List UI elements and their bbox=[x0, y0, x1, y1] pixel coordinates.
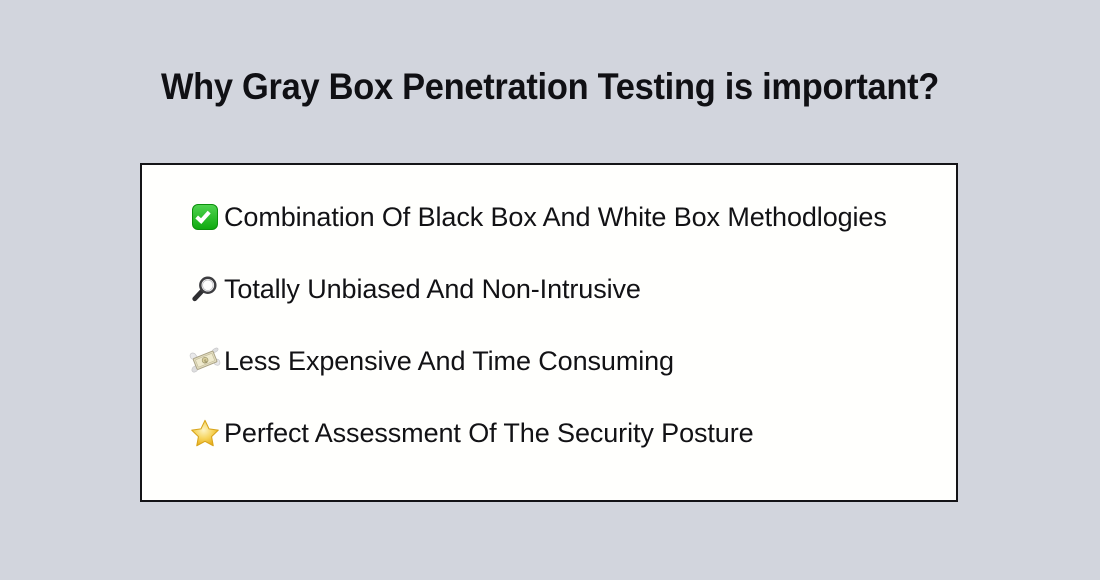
list-item: Perfect Assessment Of The Security Postu… bbox=[188, 411, 948, 455]
money-with-wings-icon: $ bbox=[188, 344, 222, 378]
list-item-label: Perfect Assessment Of The Security Postu… bbox=[224, 420, 754, 447]
magnifying-glass-shape bbox=[190, 274, 220, 304]
star-icon bbox=[188, 416, 222, 450]
list-item-label: Less Expensive And Time Consuming bbox=[224, 348, 674, 375]
magnifying-glass-tilted-left-icon bbox=[188, 272, 222, 306]
list-item-label: Combination Of Black Box And White Box M… bbox=[224, 204, 887, 231]
list-item: $ Less Expensive And Time Consuming bbox=[188, 339, 948, 383]
list-item: Combination Of Black Box And White Box M… bbox=[188, 195, 948, 239]
list-item-label: Totally Unbiased And Non-Intrusive bbox=[224, 276, 641, 303]
money-with-wings-shape: $ bbox=[189, 347, 221, 375]
slide-canvas: Why Gray Box Penetration Testing is impo… bbox=[0, 0, 1100, 580]
benefits-card: Combination Of Black Box And White Box M… bbox=[140, 163, 958, 502]
star-shape bbox=[190, 418, 220, 448]
check-mark-button-shape bbox=[192, 204, 218, 230]
benefits-list: Combination Of Black Box And White Box M… bbox=[188, 195, 948, 455]
list-item: Totally Unbiased And Non-Intrusive bbox=[188, 267, 948, 311]
check-mark-button-icon bbox=[188, 200, 222, 234]
page-title: Why Gray Box Penetration Testing is impo… bbox=[39, 66, 1062, 108]
